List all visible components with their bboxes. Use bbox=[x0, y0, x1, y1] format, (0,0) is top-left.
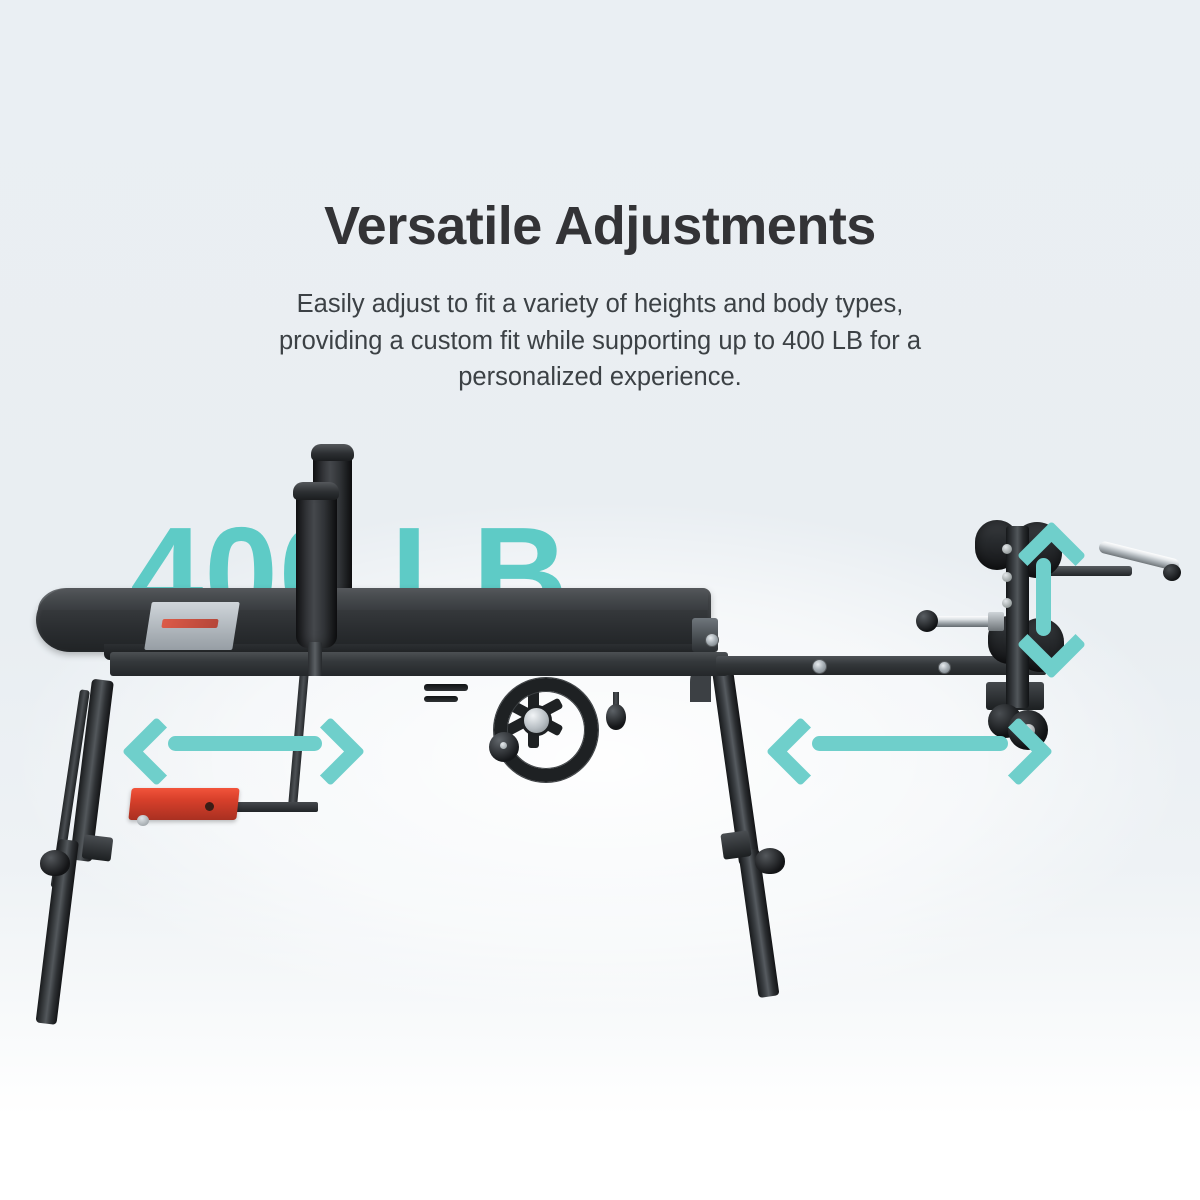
secondary-knob bbox=[606, 704, 626, 730]
foam-post-stem bbox=[308, 642, 322, 676]
front-foam-post-cap bbox=[293, 482, 339, 500]
lever-pin-icon bbox=[137, 815, 149, 826]
leg-roller-height-adjust-arrow bbox=[1016, 528, 1074, 658]
handwheel-knob-bolt-icon bbox=[500, 742, 507, 749]
front-length-adjust-arrow bbox=[126, 716, 348, 772]
product-illustration: 400 LB bbox=[0, 420, 1200, 920]
pop-pin-knob bbox=[916, 610, 938, 632]
pop-pin-collar bbox=[988, 612, 1004, 631]
rear-leg-clamp bbox=[720, 830, 751, 860]
rail-bolt-icon bbox=[705, 633, 719, 647]
rail-adjust-slot bbox=[424, 696, 458, 702]
upright-bolt-icon bbox=[1002, 598, 1012, 608]
front-foam-post bbox=[296, 486, 337, 648]
arrow-right-chevron-icon bbox=[296, 717, 365, 786]
rear-length-adjust-arrow bbox=[772, 716, 1042, 772]
front-foot-cap bbox=[40, 850, 70, 876]
bench-extension-rail bbox=[716, 656, 1034, 675]
arrow-left-chevron-icon bbox=[122, 717, 191, 786]
rail-adjust-slot bbox=[424, 684, 468, 691]
page-title: Versatile Adjustments bbox=[0, 198, 1200, 255]
upright-bolt-icon bbox=[1002, 544, 1012, 554]
arrow-left-chevron-icon bbox=[766, 717, 835, 786]
page-subtitle: Easily adjust to fit a variety of height… bbox=[244, 286, 956, 396]
rear-foam-post-cap bbox=[311, 444, 354, 461]
rail-bolt-icon bbox=[812, 659, 827, 674]
bench-seat-pad-highlight bbox=[38, 588, 708, 610]
rail-bolt-icon bbox=[938, 661, 951, 674]
rear-foot-cap bbox=[755, 848, 785, 874]
promo-banner: Versatile Adjustments Easily adjust to f… bbox=[0, 0, 1200, 1200]
bench-main-rail bbox=[110, 652, 728, 676]
bench-pad-label-stripe bbox=[161, 619, 218, 628]
arrow-shaft bbox=[812, 736, 1008, 751]
lever-bolt-icon bbox=[205, 802, 214, 811]
chrome-handle-end-cap bbox=[1163, 564, 1181, 581]
upright-bolt-icon bbox=[1002, 572, 1012, 582]
handwheel-hub-icon bbox=[521, 705, 552, 736]
arrow-up-chevron-icon bbox=[1017, 521, 1086, 590]
front-leg-clamp bbox=[82, 834, 114, 861]
